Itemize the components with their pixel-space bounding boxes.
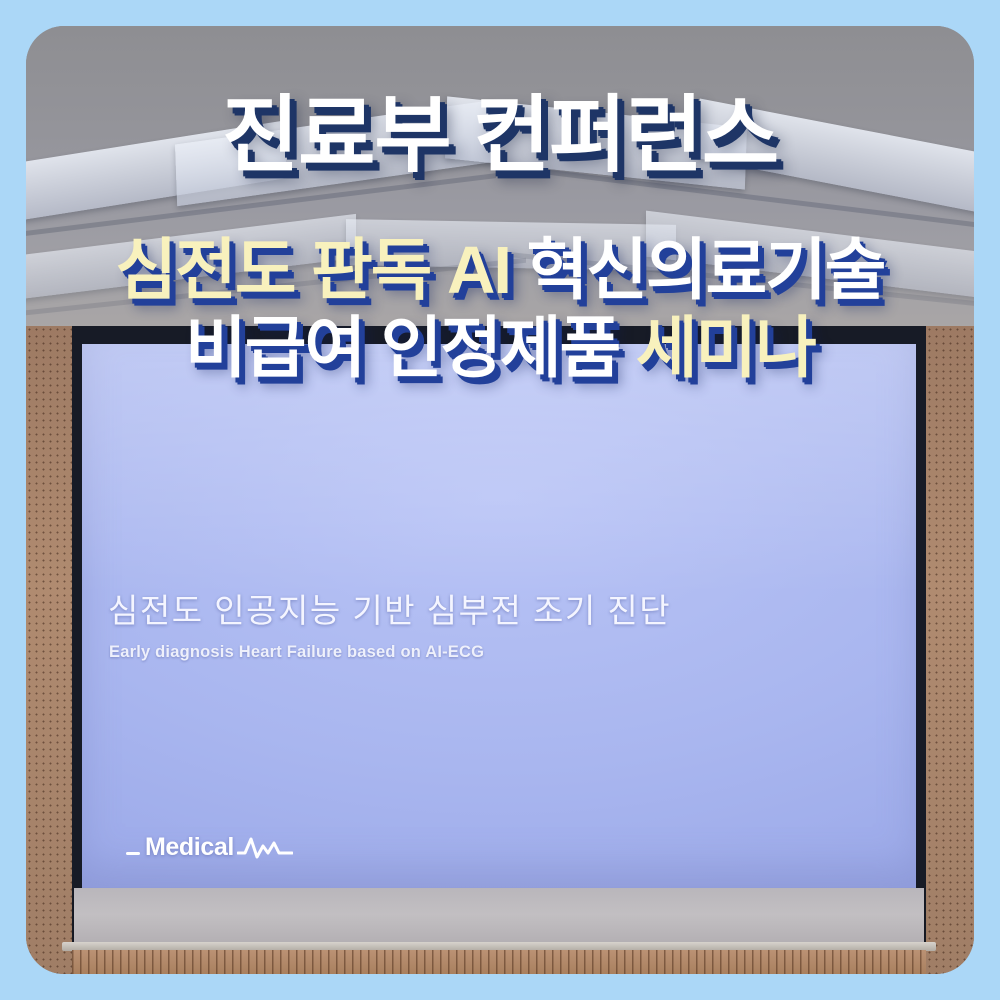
ceiling (26, 26, 974, 356)
logo-lead-line (126, 852, 140, 855)
wood-slat-wainscot (72, 950, 926, 974)
screen-casing (74, 888, 924, 946)
ecg-heartbeat-icon (237, 836, 293, 862)
logo-wordmark: Medical (145, 833, 234, 862)
conference-room-photo: 심전도 인공지능 기반 심부전 조기 진단 Early diagnosis He… (26, 26, 974, 974)
poster-card: 심전도 인공지능 기반 심부전 조기 진단 Early diagnosis He… (26, 26, 974, 974)
ceiling-baffle (646, 211, 974, 304)
medical-ai-logo: Medical (126, 832, 293, 862)
screen-glare (82, 344, 916, 595)
left-acoustic-wall (26, 326, 72, 974)
ceiling-baffle (697, 98, 974, 221)
slide-heading-english: Early diagnosis Heart Failure based on A… (109, 643, 484, 662)
slide-heading-korean: 심전도 인공지능 기반 심부전 조기 진단 (108, 584, 671, 632)
right-acoustic-wall (926, 326, 974, 974)
